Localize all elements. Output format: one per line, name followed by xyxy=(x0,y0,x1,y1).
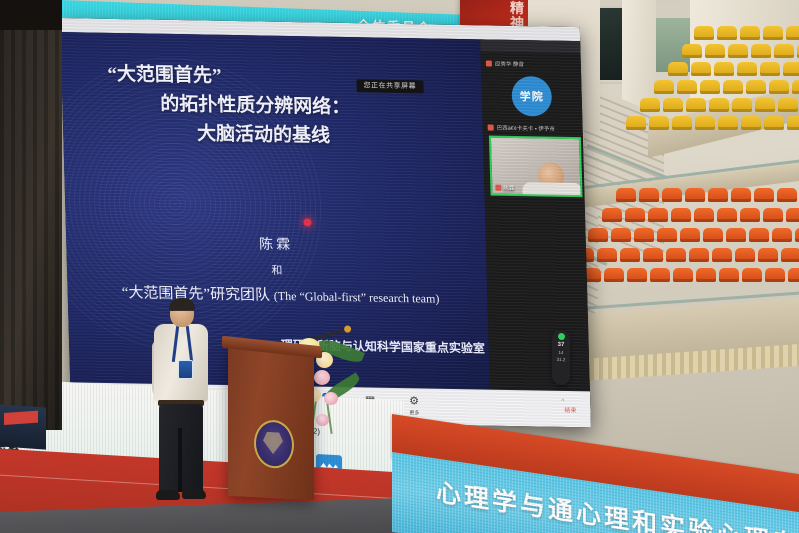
slide-title-line-3: 大脑活动的基线 xyxy=(109,119,462,154)
equipment-cart xyxy=(0,404,46,449)
avatar: 学院 xyxy=(511,76,552,117)
slide-team-en: (The “Global-first” research team) xyxy=(274,289,440,306)
screen-sharing-notice: 您正在共享屏幕 xyxy=(356,79,423,93)
zoom-panel-header xyxy=(480,39,580,53)
participant-row-1-label: 应秀华 静音 xyxy=(495,60,524,69)
slide-conjunction: 和 xyxy=(67,258,487,281)
podium-emblem xyxy=(254,419,294,469)
speaker-leg-gap xyxy=(178,428,182,492)
microphone-muted-icon xyxy=(486,60,492,66)
recording-status-icon xyxy=(558,333,565,340)
toolbar-spacer xyxy=(436,407,561,409)
participant-row-2[interactable]: 巴西â€¢卡夫卡 ▪ 伊予市 xyxy=(488,124,555,133)
microphone-muted-icon xyxy=(488,125,494,131)
speaker-glasses xyxy=(173,310,192,316)
slide-title-line-2: 的拓扑性质分辨网络： xyxy=(108,90,461,125)
podium xyxy=(228,346,314,501)
more-label: 更多 xyxy=(409,409,419,416)
microphone-icon xyxy=(495,185,501,191)
active-speaker-video-tile[interactable]: 陈霖 xyxy=(489,136,583,198)
speaker-person xyxy=(152,300,212,505)
bleacher-seats-upper xyxy=(620,26,799,148)
slide-author: 陈霖 xyxy=(66,230,486,257)
slide-title: “大范围首先” 的拓扑性质分辨网络： 大脑活动的基线 xyxy=(107,61,461,154)
slide-title-line-1: “大范围首先” xyxy=(107,64,222,87)
timer-minutes: 37 xyxy=(558,342,565,348)
ceiling-shadow xyxy=(0,0,62,30)
timer-line-2: 31.2 xyxy=(557,357,566,362)
speaker-shoe-right xyxy=(182,489,206,499)
laser-pointer-dot xyxy=(303,218,311,226)
zoom-participants-panel[interactable]: 应秀华 静音 学院 巴西â€¢卡夫卡 ▪ 伊予市 陈霖 xyxy=(480,39,590,391)
end-meeting-button[interactable]: 结束 xyxy=(564,404,576,413)
participant-body xyxy=(522,182,582,197)
left-dark-curtain xyxy=(0,0,62,430)
participant-row-2-label: 巴西â€¢卡夫卡 ▪ 伊予市 xyxy=(497,124,555,133)
speaker-shoe-left xyxy=(156,490,180,500)
video-tile-name: 陈霖 xyxy=(495,184,514,192)
meeting-timer-widget[interactable]: 37 14 31.2 xyxy=(552,330,570,386)
gear-icon: ⚙ xyxy=(409,396,419,407)
slide-team: “大范围首先”研究团队 (The “Global-first” research… xyxy=(73,280,487,308)
participant-row-1[interactable]: 应秀华 静音 xyxy=(486,59,524,68)
conference-hall-photo: 全体委员会 精神 “大范围首先” 的拓扑性质分辨网络： 大脑活动的基线 陈霖 和… xyxy=(0,0,799,533)
name-badge xyxy=(178,360,193,379)
timer-line-1: 14 xyxy=(558,350,563,355)
